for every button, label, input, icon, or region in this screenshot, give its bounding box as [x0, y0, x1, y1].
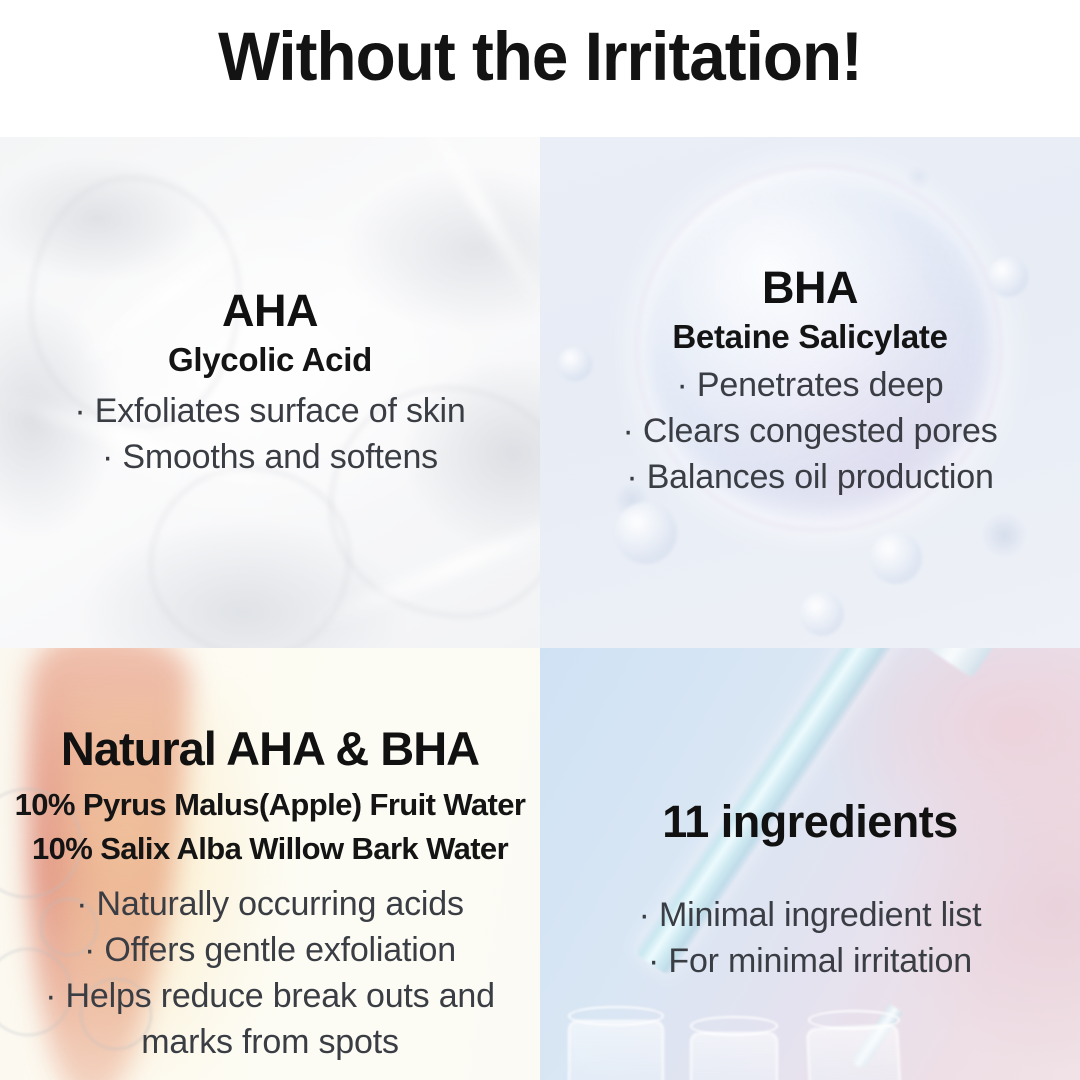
quadrant-bha[interactable]: BHA Betaine Salicylate · Penetrates deep… — [540, 137, 1080, 648]
aha-subname: Glycolic Acid — [168, 340, 372, 380]
list-item: · Penetrates deep — [622, 362, 997, 408]
quadrant-ingredients[interactable]: 11 ingredients · Minimal ingredient list… — [540, 648, 1080, 1080]
list-item: · Balances oil production — [622, 454, 997, 500]
page-title: Without the Irritation! — [27, 20, 1053, 94]
quadrant-ingredients-content: 11 ingredients · Minimal ingredient list… — [540, 648, 1080, 1080]
bha-heading: BHA — [762, 262, 858, 314]
natural-bullet-list: · Naturally occurring acids · Offers gen… — [30, 881, 510, 1065]
list-item: · Naturally occurring acids — [30, 881, 510, 927]
quadrant-aha-content: AHA Glycolic Acid · Exfoliates surface o… — [0, 137, 540, 648]
percentage-line: 10% Salix Alba Willow Bark Water — [15, 827, 526, 871]
quadrant-natural-aha-bha[interactable]: Natural AHA & BHA 10% Pyrus Malus(Apple)… — [0, 648, 540, 1080]
ingredients-bullet-list: · Minimal ingredient list · For minimal … — [639, 892, 982, 984]
quadrant-grid: AHA Glycolic Acid · Exfoliates surface o… — [0, 137, 1080, 1080]
natural-heading: Natural AHA & BHA — [61, 721, 479, 777]
percentage-group: 10% Pyrus Malus(Apple) Fruit Water 10% S… — [15, 783, 526, 871]
quadrant-natural-content: Natural AHA & BHA 10% Pyrus Malus(Apple)… — [0, 648, 540, 1080]
bha-subname: Betaine Salicylate — [672, 317, 947, 357]
list-item: · Smooths and softens — [74, 434, 465, 480]
quadrant-bha-content: BHA Betaine Salicylate · Penetrates deep… — [540, 137, 1080, 648]
infographic-page: with AHA & BHA to exfoliate and renew Wi… — [0, 0, 1080, 1080]
list-item: · Helps reduce break outs and marks from… — [30, 973, 510, 1065]
list-item: · Offers gentle exfoliation — [30, 927, 510, 973]
ingredients-heading: 11 ingredients — [662, 796, 958, 848]
cut-off-text-line: with AHA & BHA to exfoliate and renew — [0, 0, 1080, 14]
header-band: Without the Irritation! — [0, 14, 1080, 137]
bha-bullet-list: · Penetrates deep · Clears congested por… — [622, 362, 997, 500]
list-item: · Clears congested pores — [622, 408, 997, 454]
percentage-line: 10% Pyrus Malus(Apple) Fruit Water — [15, 783, 526, 827]
list-item: · Minimal ingredient list — [639, 892, 982, 938]
quadrant-aha[interactable]: AHA Glycolic Acid · Exfoliates surface o… — [0, 137, 540, 648]
list-item: · Exfoliates surface of skin — [74, 388, 465, 434]
aha-heading: AHA — [222, 285, 318, 337]
list-item: · For minimal irritation — [639, 938, 982, 984]
aha-bullet-list: · Exfoliates surface of skin · Smooths a… — [74, 388, 465, 480]
